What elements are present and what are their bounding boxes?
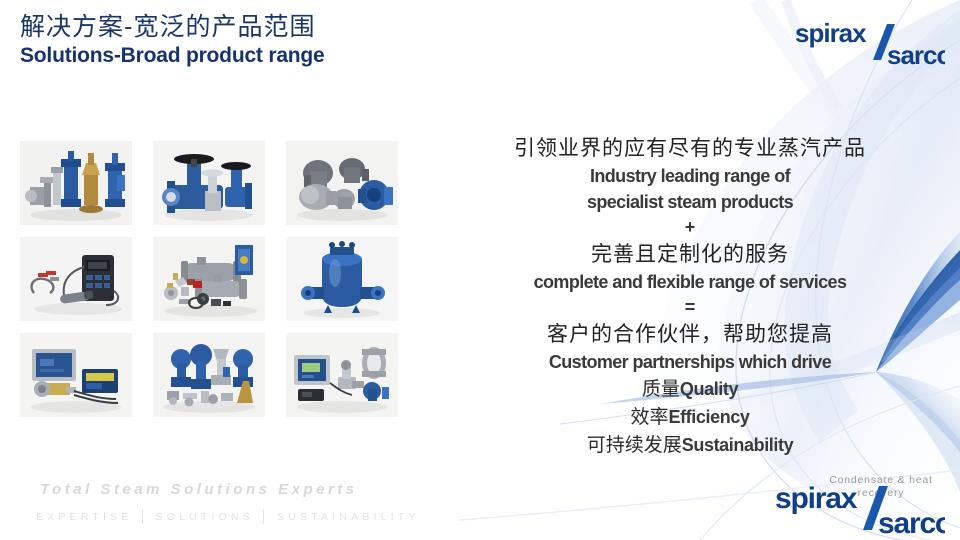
message-block: 引领业界的应有尽有的专业蒸汽产品 Industry leading range … xyxy=(450,133,930,459)
page-title-english: Solutions-Broad product range xyxy=(20,43,580,69)
message-line-sustainability-en: Sustainability xyxy=(682,435,793,455)
spirax-sarco-logo-top: spirax sarco xyxy=(795,18,945,70)
logo-mark: spirax sarco xyxy=(795,18,945,70)
product-image-portable-test-instrument xyxy=(20,237,132,321)
footer-pillar-divider xyxy=(263,509,264,524)
product-row xyxy=(20,141,420,225)
page-title-chinese: 解决方案-宽泛的产品范围 xyxy=(20,12,580,42)
logo-mark: spirax sarco xyxy=(775,480,945,538)
footer-pillar-sustainability: SUSTAINABILITY xyxy=(277,511,420,523)
footer-pillar-expertise: EXPERTISE xyxy=(36,511,133,523)
page-title: 解决方案-宽泛的产品范围 Solutions-Broad product ran… xyxy=(20,12,580,69)
spirax-sarco-logo-bottom: spirax sarco xyxy=(775,480,945,538)
product-image-heat-exchangers-and-fittings xyxy=(153,237,265,321)
product-image-pneumatic-actuated-valves xyxy=(153,333,265,417)
footer-pillar-solutions: SOLUTIONS xyxy=(156,511,254,523)
svg-text:spirax: spirax xyxy=(775,482,858,515)
product-row xyxy=(20,333,420,417)
product-image-boiler-level-controls xyxy=(20,333,132,417)
message-line-sustainability-cn: 可持续发展 xyxy=(587,434,682,456)
message-line-efficiency: 效率Efficiency xyxy=(450,403,930,431)
message-line-2: Industry leading range of xyxy=(450,163,930,189)
message-line-sustainability: 可持续发展Sustainability xyxy=(450,431,930,459)
product-image-steam-traps xyxy=(286,141,398,225)
message-line-quality-cn: 质量 xyxy=(642,378,680,400)
product-image-control-valves xyxy=(153,141,265,225)
product-row xyxy=(20,237,420,321)
product-image-flow-metering-systems xyxy=(286,333,398,417)
message-line-efficiency-cn: 效率 xyxy=(630,406,668,428)
message-line-3: specialist steam products xyxy=(450,189,930,215)
message-line-efficiency-en: Efficiency xyxy=(668,407,749,427)
message-line-6: complete and flexible range of services xyxy=(450,269,930,295)
message-line-quality-en: Quality xyxy=(680,379,738,399)
message-operator-equals: = xyxy=(450,295,930,319)
footer-pillar-divider xyxy=(142,509,143,524)
svg-text:sarco: sarco xyxy=(887,40,945,70)
product-image-condensate-recovery-pump xyxy=(286,237,398,321)
message-line-5: 完善且定制化的服务 xyxy=(450,239,930,269)
svg-text:sarco: sarco xyxy=(878,507,945,538)
message-line-8: 客户的合作伙伴，帮助您提高 xyxy=(450,319,930,349)
message-line-1: 引领业界的应有尽有的专业蒸汽产品 xyxy=(450,133,930,163)
svg-text:spirax: spirax xyxy=(795,18,867,48)
slide-canvas: 解决方案-宽泛的产品范围 Solutions-Broad product ran… xyxy=(0,0,960,540)
message-operator-plus: + xyxy=(450,215,930,239)
message-line-quality: 质量Quality xyxy=(450,375,930,403)
product-image-safety-relief-valves xyxy=(20,141,132,225)
product-image-grid xyxy=(20,141,420,429)
footer-pillars: EXPERTISE SOLUTIONS SUSTAINABILITY xyxy=(36,509,420,524)
message-line-9: Customer partnerships which drive xyxy=(450,349,930,375)
footer-tagline: Total Steam Solutions Experts xyxy=(40,481,358,498)
